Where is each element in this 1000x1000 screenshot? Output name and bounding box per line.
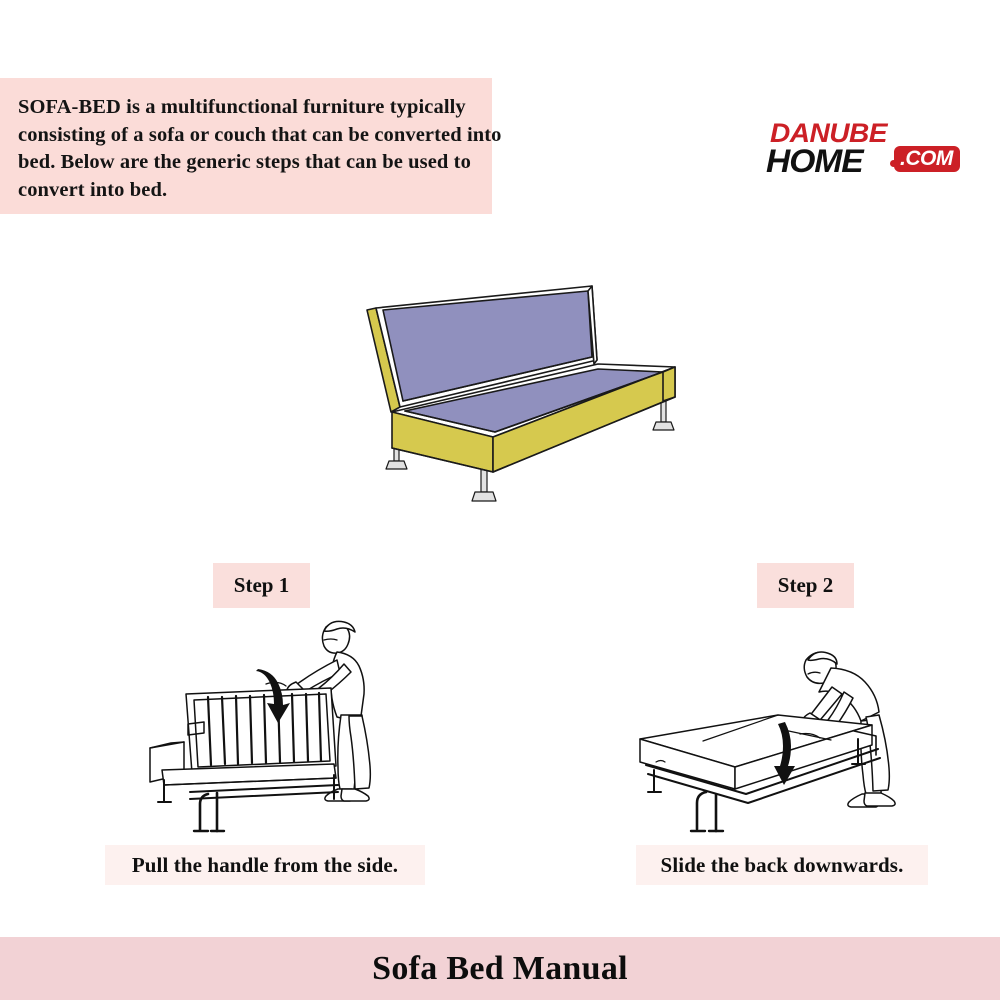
- sofa-bed-hero-illustration: [345, 268, 705, 513]
- step-2-illustration: [628, 612, 896, 837]
- logo-dotcom-badge: .COM: [894, 146, 960, 172]
- step-2-badge: Step 2: [757, 563, 854, 608]
- footer-band: Sofa Bed Manual: [0, 937, 1000, 1000]
- logo-home-wordmark: HOME: [766, 143, 863, 180]
- step-1-illustration: [138, 612, 396, 837]
- bed-frame: [640, 715, 880, 831]
- footer-title: Sofa Bed Manual: [372, 950, 628, 988]
- brand-logo: DANUBE HOME .COM: [766, 118, 971, 176]
- intro-paragraph: SOFA-BED is a multifunctional furniture …: [18, 94, 518, 204]
- step-1-caption: Pull the handle from the side.: [105, 845, 425, 885]
- step-1-badge: Step 1: [213, 563, 310, 608]
- step-2-caption: Slide the back downwards.: [636, 845, 928, 885]
- sofa-frame: [150, 688, 338, 831]
- manual-page: SOFA-BED is a multifunctional furniture …: [0, 0, 1000, 1000]
- intro-callout-box: SOFA-BED is a multifunctional furniture …: [0, 78, 492, 214]
